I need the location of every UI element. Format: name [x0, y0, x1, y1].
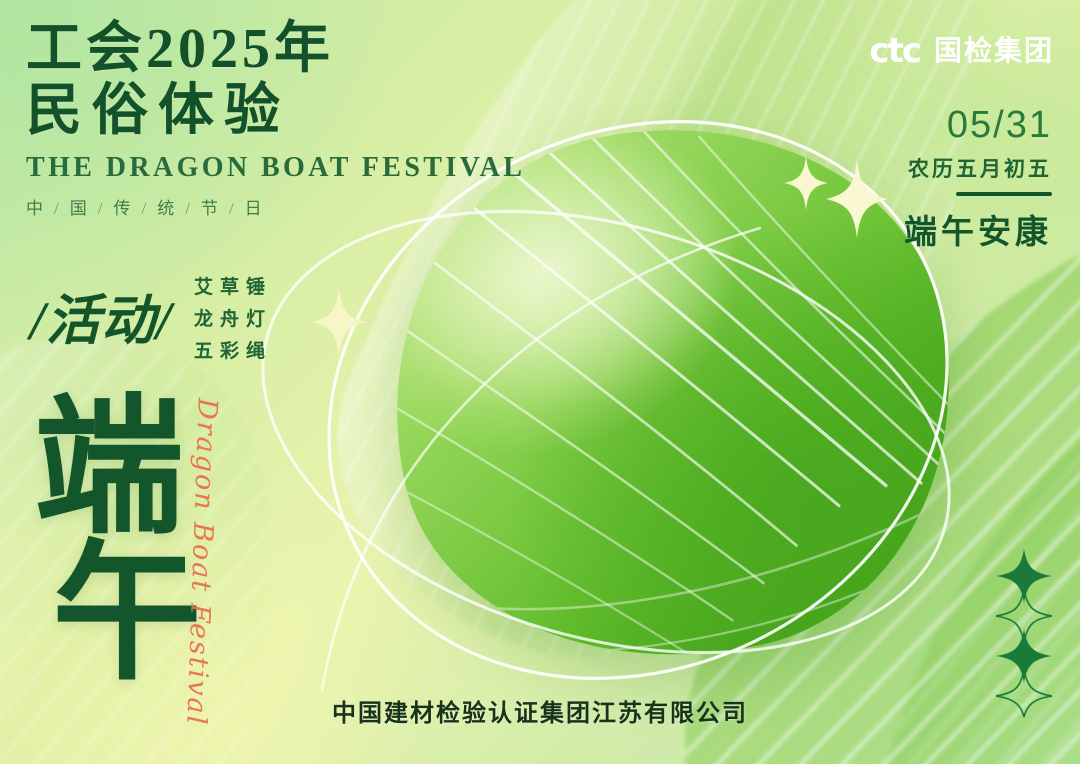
diamond-filled [996, 549, 1052, 603]
subtitle-separator: / [98, 199, 105, 218]
date-block: 05/31 农历五月初五 端午安康 [904, 105, 1052, 253]
subtitle-char: 传 [113, 199, 132, 218]
subtitle-separator: / [185, 199, 192, 218]
subtitle-separator: / [54, 199, 61, 218]
activity-block: /活动/ 艾草锤 龙舟灯 五彩绳 [30, 268, 272, 363]
subtitle-char: 中 [26, 199, 45, 218]
big-title-char-2: 午 [52, 546, 202, 684]
subtitle-char: 国 [70, 199, 89, 218]
ctc-logo-icon: ctc [869, 34, 920, 68]
headline-line-2: 民俗体验 [26, 82, 586, 140]
brand-name: 国检集团 [934, 37, 1054, 65]
big-title-block: 端 午 [34, 400, 202, 684]
subtitle-english: THE DRAGON BOAT FESTIVAL [26, 152, 586, 184]
headline-line-1: 工会2025年 [26, 20, 586, 78]
subtitle-separator: / [141, 199, 148, 218]
subtitle-chinese: 中/国/传/统/节/日 [26, 194, 586, 219]
activity-list: 艾草锤 龙舟灯 五彩绳 [194, 268, 272, 363]
activity-label: /活动/ [30, 276, 172, 355]
headline-block: 工会2025年 民俗体验 THE DRAGON BOAT FESTIVAL 中/… [26, 20, 586, 219]
subtitle-char: 节 [201, 199, 220, 218]
footer-company-name: 中国建材检验认证集团江苏有限公司 [0, 693, 1080, 728]
subtitle-char: 统 [157, 199, 176, 218]
subtitle-char: 日 [245, 199, 264, 218]
subtitle-separator: / [229, 199, 236, 218]
dragon-boat-festival-poster: 工会2025年 民俗体验 THE DRAGON BOAT FESTIVAL 中/… [0, 0, 1080, 764]
sparkle-icon-left [312, 288, 366, 361]
diamond-decoration-stack [992, 545, 1056, 726]
diamond-filled [996, 629, 1052, 683]
greeting-text: 端午安康 [904, 205, 1052, 253]
date-gregorian: 05/31 [904, 105, 1052, 147]
date-lunar: 农历五月初五 [904, 153, 1052, 183]
activity-item: 龙舟灯 [194, 304, 272, 331]
brand-logo: ctc 国检集团 [869, 34, 1054, 68]
big-title-char-1: 端 [34, 400, 202, 538]
date-divider [956, 192, 1052, 196]
activity-item: 五彩绳 [194, 336, 272, 363]
activity-item: 艾草锤 [194, 272, 272, 299]
